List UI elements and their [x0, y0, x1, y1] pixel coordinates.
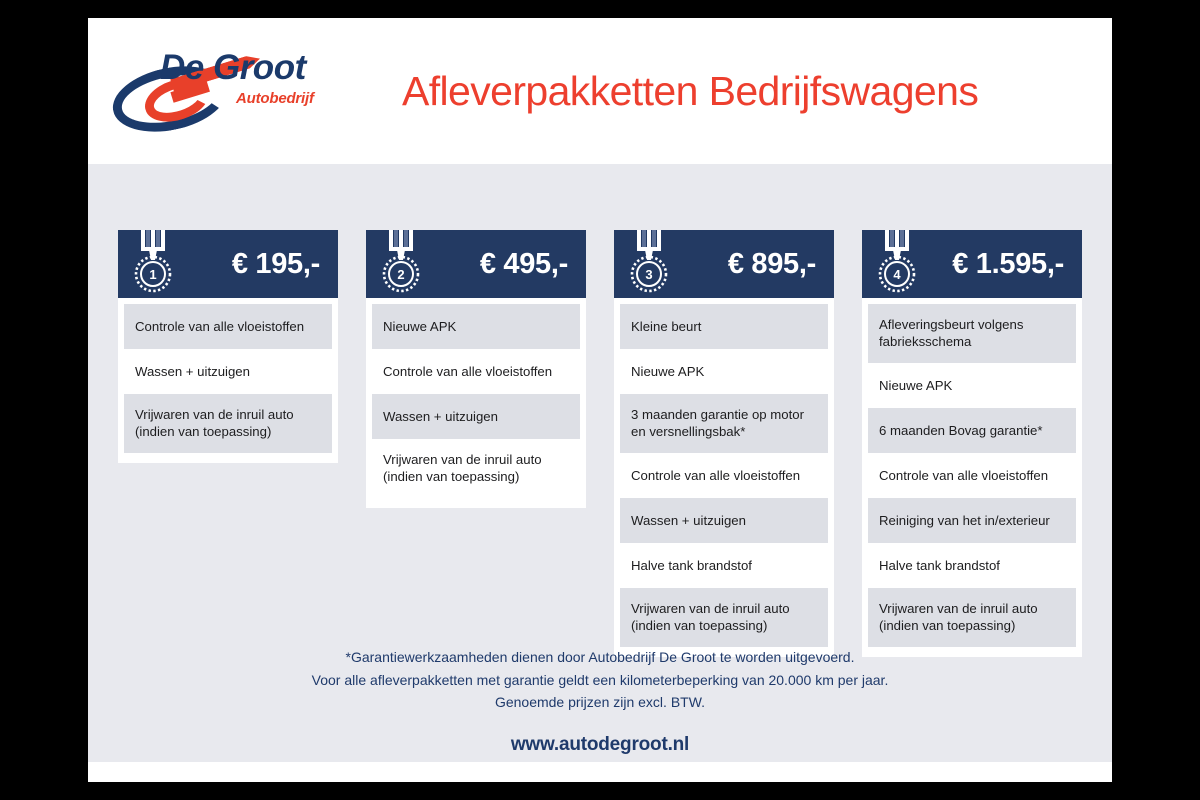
package-feature: Nieuwe APK: [372, 304, 580, 349]
package-card-header: 4 € 1.595,-: [862, 230, 1082, 298]
logo-tagline: Autobedrijf: [236, 90, 314, 107]
package-price: € 495,-: [480, 248, 568, 281]
package-price: € 895,-: [728, 248, 816, 281]
package-card-header: 3 € 895,-: [614, 230, 834, 298]
package-card[interactable]: 1 € 195,- Controle van alle vloeistoffen…: [118, 230, 338, 463]
package-feature: Wassen + uitzuigen: [372, 394, 580, 439]
package-feature: Vrijwaren van de inruil auto (indien van…: [868, 588, 1076, 647]
website-link[interactable]: www.autodegroot.nl: [511, 734, 689, 756]
package-feature: Kleine beurt: [620, 304, 828, 349]
package-feature: Controle van alle vloeistoffen: [868, 453, 1076, 498]
package-feature: Controle van alle vloeistoffen: [620, 453, 828, 498]
package-feature: Vrijwaren van de inruil auto (indien van…: [124, 394, 332, 453]
package-feature-list: Afleveringsbeurt volgens fabrieksschema …: [862, 298, 1082, 657]
package-feature: Vrijwaren van de inruil auto (indien van…: [372, 439, 580, 498]
package-card[interactable]: 3 € 895,- Kleine beurt Nieuwe APK 3 maan…: [614, 230, 834, 657]
package-card-header: 2 € 495,-: [366, 230, 586, 298]
package-feature: Reiniging van het in/exterieur: [868, 498, 1076, 543]
package-feature: Afleveringsbeurt volgens fabrieksschema: [868, 304, 1076, 363]
footer-disclaimer-line: *Garantiewerkzaamheden dienen door Autob…: [88, 646, 1112, 669]
package-feature: Nieuwe APK: [868, 363, 1076, 408]
poster-canvas: De Groot Autobedrijf Afleverpakketten Be…: [88, 18, 1112, 782]
svg-text:4: 4: [893, 267, 901, 282]
footer-white-strip: [88, 762, 1112, 782]
footer-disclaimer-line: Genoemde prijzen zijn excl. BTW.: [88, 691, 1112, 714]
package-feature-list: Nieuwe APK Controle van alle vloeistoffe…: [366, 298, 586, 508]
footer-disclaimer-line: Voor alle afleverpakketten met garantie …: [88, 669, 1112, 692]
package-feature: Wassen + uitzuigen: [620, 498, 828, 543]
package-feature: Halve tank brandstof: [868, 543, 1076, 588]
package-feature: 6 maanden Bovag garantie*: [868, 408, 1076, 453]
medal-icon: 1: [132, 230, 178, 296]
package-feature: Nieuwe APK: [620, 349, 828, 394]
package-card[interactable]: 4 € 1.595,- Afleveringsbeurt volgens fab…: [862, 230, 1082, 657]
medal-icon: 2: [380, 230, 426, 296]
package-feature: Halve tank brandstof: [620, 543, 828, 588]
package-feature: Controle van alle vloeistoffen: [372, 349, 580, 394]
svg-text:3: 3: [645, 267, 652, 282]
page-header: De Groot Autobedrijf Afleverpakketten Be…: [88, 18, 1112, 164]
medal-icon: 4: [876, 230, 922, 296]
svg-text:2: 2: [397, 267, 404, 282]
logo-company-name: De Groot: [160, 48, 306, 88]
package-card-list: 1 € 195,- Controle van alle vloeistoffen…: [118, 230, 1082, 657]
package-card-header: 1 € 195,-: [118, 230, 338, 298]
company-logo: De Groot Autobedrijf: [110, 46, 340, 136]
svg-text:1: 1: [149, 267, 156, 282]
page-footer: *Garantiewerkzaamheden dienen door Autob…: [88, 646, 1112, 756]
package-price: € 1.595,-: [952, 248, 1064, 281]
package-feature: Wassen + uitzuigen: [124, 349, 332, 394]
package-price: € 195,-: [232, 248, 320, 281]
page-title: Afleverpakketten Bedrijfswagens: [402, 68, 978, 115]
package-feature: Vrijwaren van de inruil auto (indien van…: [620, 588, 828, 647]
package-feature-list: Kleine beurt Nieuwe APK 3 maanden garant…: [614, 298, 834, 657]
package-card[interactable]: 2 € 495,- Nieuwe APK Controle van alle v…: [366, 230, 586, 508]
package-feature: 3 maanden garantie op motor en versnelli…: [620, 394, 828, 453]
package-feature-list: Controle van alle vloeistoffen Wassen + …: [118, 298, 338, 463]
medal-icon: 3: [628, 230, 674, 296]
package-feature: Controle van alle vloeistoffen: [124, 304, 332, 349]
